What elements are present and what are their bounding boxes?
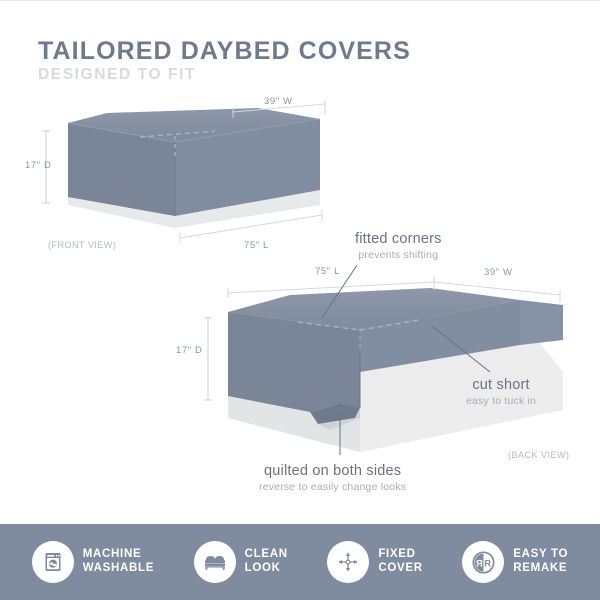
leader-cut-short xyxy=(432,326,490,372)
feature-fixed-cover: FIXED COVER xyxy=(327,541,422,583)
back-view-illustration xyxy=(204,265,563,455)
front-view-label: (FRONT VIEW) xyxy=(48,240,116,250)
back-length-label: 75" L xyxy=(315,266,340,277)
page-subtitle: DESIGNED TO FIT xyxy=(38,67,411,83)
easy-to-remake-badge: R R xyxy=(462,541,504,583)
front-length-line xyxy=(180,215,322,238)
callout-cut-short-sub: easy to tuck in xyxy=(466,395,536,407)
feature-clean-look: CLEAN LOOK xyxy=(194,541,288,583)
back-length-line xyxy=(228,282,434,293)
callout-fitted-corners-sub: prevents shifting xyxy=(355,249,442,261)
fixed-cover-label: FIXED COVER xyxy=(378,548,422,575)
callout-quilted-sub: reverse to easily change looks xyxy=(259,481,406,493)
callout-quilted-both-sides: quilted on both sides reverse to easily … xyxy=(259,464,406,493)
front-base-front xyxy=(68,185,320,228)
diagram-illustrations xyxy=(0,0,600,600)
page-header: TAILORED DAYBED COVERS DESIGNED TO FIT xyxy=(38,38,411,84)
front-length-label: 75" L xyxy=(244,240,269,251)
front-width-label: 39" W xyxy=(264,96,293,107)
front-base-left xyxy=(68,163,175,208)
back-width-label: 39" W xyxy=(484,267,513,278)
callout-cut-short: cut short easy to tuck in xyxy=(466,378,536,407)
clean-look-label: CLEAN LOOK xyxy=(245,548,288,575)
back-stitch-dashes-left xyxy=(298,322,360,330)
easy-to-remake-label: EASY TO REMAKE xyxy=(513,548,568,575)
back-cover-skirt xyxy=(228,360,360,412)
infographic-page: TAILORED DAYBED COVERS DESIGNED TO FIT xyxy=(0,0,600,600)
washing-machine-icon xyxy=(41,550,65,574)
front-cover-top-face xyxy=(68,108,320,142)
feature-easy-to-remake: R R EASY TO REMAKE xyxy=(462,541,568,583)
back-depth-label: 17" D xyxy=(176,345,202,356)
svg-text:R: R xyxy=(484,557,491,568)
callout-cut-short-main: cut short xyxy=(466,378,536,394)
machine-washable-label: MACHINE WASHABLE xyxy=(83,548,154,575)
back-view-label: (BACK VIEW) xyxy=(508,450,570,460)
bed-icon xyxy=(202,549,228,575)
machine-washable-badge xyxy=(32,541,74,583)
front-view-illustration xyxy=(42,100,325,243)
feature-bar: MACHINE WASHABLE CLEAN LOOK xyxy=(0,524,600,600)
back-cover-top-face xyxy=(228,288,520,330)
back-hem-dashes xyxy=(232,338,556,368)
feature-machine-washable: MACHINE WASHABLE xyxy=(32,541,154,583)
front-cover-top-edge xyxy=(68,119,320,142)
front-cover-right-face xyxy=(175,119,320,216)
reversible-r-icon: R R xyxy=(470,549,497,576)
back-cover-flap-open xyxy=(318,408,360,430)
fixed-cover-badge xyxy=(327,541,369,583)
back-cover-right-face xyxy=(360,300,520,372)
back-cover-flap-shadow xyxy=(310,404,360,424)
back-stitch-dashes-right xyxy=(360,320,420,330)
four-way-arrows-icon xyxy=(335,549,361,575)
top-divider xyxy=(0,0,600,1)
front-depth-label: 17" D xyxy=(25,160,51,171)
back-cover-left-face xyxy=(228,312,360,408)
front-base-side xyxy=(175,168,320,208)
callout-fitted-corners-main: fitted corners xyxy=(355,232,442,248)
back-width-line xyxy=(434,282,560,295)
clean-look-badge xyxy=(194,541,236,583)
back-base-left xyxy=(228,372,360,452)
front-cover-left-face xyxy=(68,123,175,216)
back-cover-right-edge-face xyxy=(520,300,563,345)
page-title: TAILORED DAYBED COVERS xyxy=(38,38,411,64)
front-stitch-dashes xyxy=(140,131,215,137)
callout-fitted-corners: fitted corners prevents shifting xyxy=(355,232,442,261)
svg-text:R: R xyxy=(475,557,482,568)
callout-quilted-main: quilted on both sides xyxy=(259,464,406,480)
